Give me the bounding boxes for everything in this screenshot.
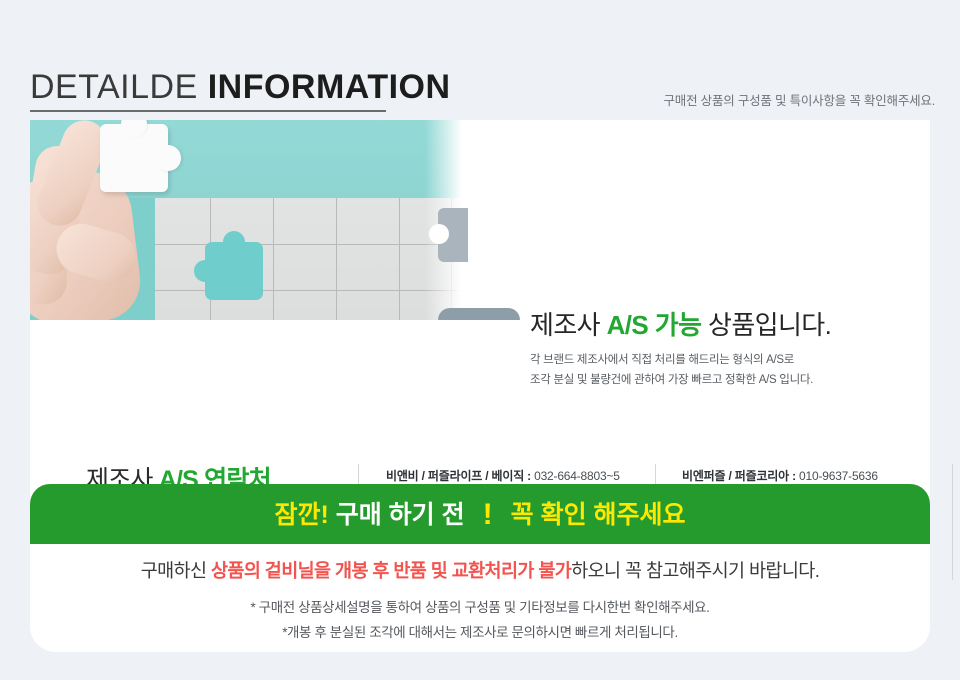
page-title-bold: INFORMATION <box>208 68 451 106</box>
contact-entry-value: 032-664-8803~5 <box>534 469 620 483</box>
page-title-thin: DETAILDE <box>30 68 198 106</box>
bottom-sub-line-1: * 구매전 상품상세설명을 통하여 상품의 구성품 및 기타정보를 다시한번 확… <box>30 596 930 621</box>
product-detail-page: DETAILDE INFORMATION 구매전 상품의 구성품 및 특이사항을… <box>0 0 960 680</box>
hero-heading: 제조사 A/S 가능 상품입니다. <box>530 310 960 341</box>
notice-banner-yellow-left: 잠깐! <box>274 501 328 529</box>
hero-heading-post: 상품입니다. <box>701 310 831 340</box>
notice-banner-text: 잠깐! 구매 하기 전!꼭 확인 해주세요 <box>274 499 685 529</box>
hero-text-block: 제조사 A/S 가능 상품입니다. 각 브랜드 제조사에서 직접 처리를 해드리… <box>530 310 960 390</box>
bottom-main-red: 상품의 겉비닐을 개봉 후 반품 및 교환처리가 불가 <box>211 560 571 581</box>
contact-entry-label: 비앤비 / 퍼즐라이프 / 베이직 : <box>386 469 534 483</box>
bottom-main-pre: 구매하신 <box>141 560 211 581</box>
contact-entry-label: 비엔퍼즐 / 퍼즐코리아 : <box>682 469 799 483</box>
notice-banner: 잠깐! 구매 하기 전!꼭 확인 해주세요 <box>30 484 930 544</box>
bottom-main-notice: 구매하신 상품의 겉비닐을 개봉 후 반품 및 교환처리가 불가하오니 꼭 참고… <box>30 558 930 584</box>
gears-icon <box>438 308 520 320</box>
bottom-sub-line-2: *개봉 후 분실된 조각에 대해서는 제조사로 문의하시면 빠르게 처리됩니다. <box>30 621 930 646</box>
notice-banner-white-left: 구매 하기 전 <box>336 501 465 529</box>
empty-puzzle-slot <box>205 242 263 300</box>
hero-heading-pre: 제조사 <box>530 310 607 340</box>
header-divider <box>30 110 386 112</box>
puzzle-edge-piece <box>438 208 468 262</box>
puzzle-photo <box>30 120 465 320</box>
bottom-sub-notices: * 구매전 상품상세설명을 통하여 상품의 구성품 및 기타정보를 다시한번 확… <box>30 596 930 646</box>
page-header: DETAILDE INFORMATION <box>30 70 390 112</box>
bottom-notes: 구매하신 상품의 겉비닐을 개봉 후 반품 및 교환처리가 불가하오니 꼭 참고… <box>30 544 930 652</box>
bottom-main-post: 하오니 꼭 참고해주시기 바랍니다. <box>571 560 819 581</box>
exclamation-icon: ! <box>465 500 511 530</box>
puzzle-piece <box>100 124 168 192</box>
puzzle-grid <box>155 198 465 320</box>
header-note: 구매전 상품의 구성품 및 특이사항을 꼭 확인해주세요. <box>663 90 935 109</box>
hero-subtext: 각 브랜드 제조사에서 직접 처리를 해드리는 형식의 A/S로 조각 분실 및… <box>530 350 960 390</box>
notice-banner-yellow-right: 꼭 확인 해주세요 <box>511 501 686 529</box>
page-title: DETAILDE INFORMATION <box>30 70 390 106</box>
hero-subtext-line-2: 조각 분실 및 불량건에 관하여 가장 빠르고 정확한 A/S 입니다. <box>530 370 960 390</box>
hero-subtext-line-1: 각 브랜드 제조사에서 직접 처리를 해드리는 형식의 A/S로 <box>530 350 960 370</box>
hero-heading-accent: A/S 가능 <box>607 310 702 340</box>
hero-section <box>30 120 930 320</box>
hand-holding-piece <box>30 120 198 320</box>
contact-entry-value: 010-9637-5636 <box>799 469 878 483</box>
